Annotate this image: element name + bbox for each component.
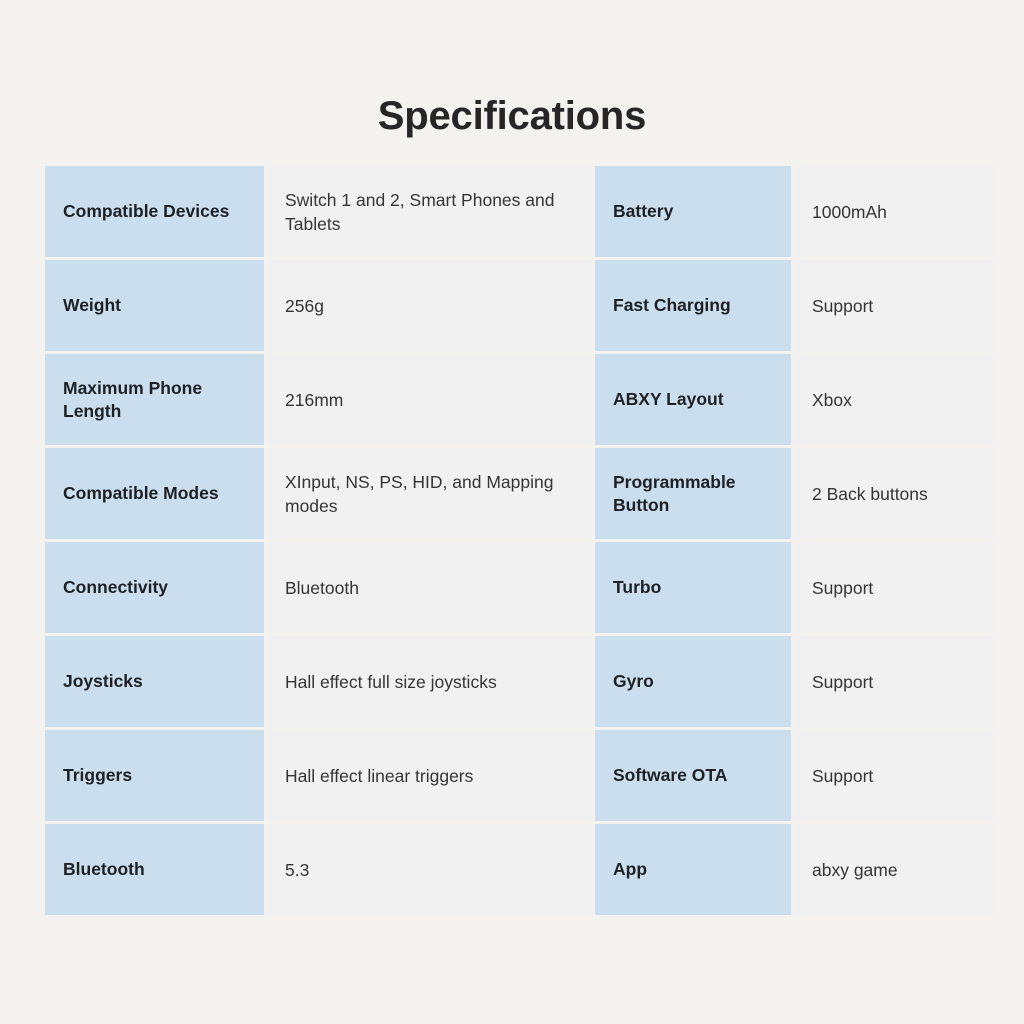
specifications-table: Compatible Devices Switch 1 and 2, Smart… — [42, 163, 997, 918]
table-row: Compatible Modes XInput, NS, PS, HID, an… — [45, 448, 994, 539]
spec-value: 2 Back buttons — [794, 448, 994, 539]
specifications-table-body: Compatible Devices Switch 1 and 2, Smart… — [45, 166, 994, 915]
spec-label: Turbo — [595, 542, 791, 633]
spec-value: 256g — [267, 260, 592, 351]
spec-value: Support — [794, 636, 994, 727]
spec-label: Software OTA — [595, 730, 791, 821]
spec-label: Weight — [45, 260, 264, 351]
spec-value: 1000mAh — [794, 166, 994, 257]
spec-label: Compatible Devices — [45, 166, 264, 257]
spec-value: Support — [794, 730, 994, 821]
spec-value: 5.3 — [267, 824, 592, 915]
spec-value: Xbox — [794, 354, 994, 445]
table-row: Maximum Phone Length 216mm ABXY Layout X… — [45, 354, 994, 445]
spec-value: Switch 1 and 2, Smart Phones and Tablets — [267, 166, 592, 257]
page-title: Specifications — [0, 92, 1024, 140]
specifications-page: Specifications Compatible Devices Switch… — [0, 0, 1024, 1024]
spec-value: Bluetooth — [267, 542, 592, 633]
spec-label: ABXY Layout — [595, 354, 791, 445]
spec-label: Battery — [595, 166, 791, 257]
spec-label: Joysticks — [45, 636, 264, 727]
spec-label: Bluetooth — [45, 824, 264, 915]
table-row: Bluetooth 5.3 App abxy game — [45, 824, 994, 915]
spec-label: Fast Charging — [595, 260, 791, 351]
spec-label: Maximum Phone Length — [45, 354, 264, 445]
spec-label: Triggers — [45, 730, 264, 821]
spec-value: Hall effect linear triggers — [267, 730, 592, 821]
spec-value: XInput, NS, PS, HID, and Mapping modes — [267, 448, 592, 539]
table-row: Compatible Devices Switch 1 and 2, Smart… — [45, 166, 994, 257]
spec-label: Programmable Button — [595, 448, 791, 539]
spec-value: abxy game — [794, 824, 994, 915]
spec-label: Gyro — [595, 636, 791, 727]
table-row: Joysticks Hall effect full size joystick… — [45, 636, 994, 727]
spec-value: Support — [794, 542, 994, 633]
spec-label: Connectivity — [45, 542, 264, 633]
spec-value: Support — [794, 260, 994, 351]
table-row: Connectivity Bluetooth Turbo Support — [45, 542, 994, 633]
table-row: Weight 256g Fast Charging Support — [45, 260, 994, 351]
table-row: Triggers Hall effect linear triggers Sof… — [45, 730, 994, 821]
spec-label: Compatible Modes — [45, 448, 264, 539]
spec-value: Hall effect full size joysticks — [267, 636, 592, 727]
spec-value: 216mm — [267, 354, 592, 445]
spec-label: App — [595, 824, 791, 915]
